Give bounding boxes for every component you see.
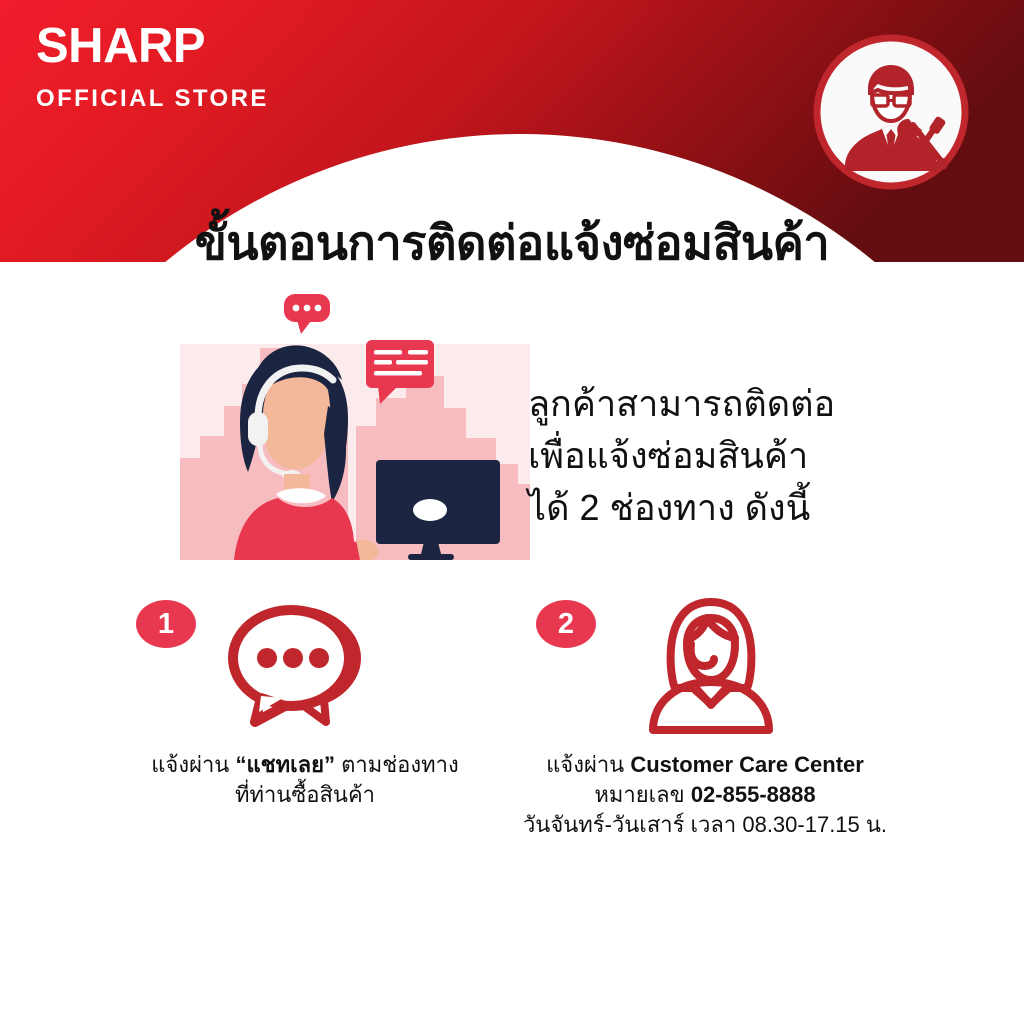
cap-text: แจ้งผ่าน <box>546 752 630 777</box>
small-chat-bubble-icon <box>284 294 330 334</box>
cap-text: แจ้งผ่าน <box>151 752 235 777</box>
promo-graphic-page: SHARP OFFICIAL STORE <box>0 0 1024 1024</box>
agent-illustration-svg <box>180 288 530 560</box>
chat-bubbles-icon <box>225 592 385 737</box>
hero-line-3: ได้ 2 ช่องทาง ดังนี้ <box>528 482 928 534</box>
cap-text: วันจันทร์-วันเสาร์ เวลา 08.30-17.15 น. <box>523 812 887 837</box>
channel-2-caption-line-3: วันจันทร์-วันเสาร์ เวลา 08.30-17.15 น. <box>505 810 905 840</box>
cap-text: ตามช่องทาง <box>335 752 459 777</box>
brand-wordmark: SHARP <box>36 22 269 71</box>
cap-text: หมายเลข <box>594 782 690 807</box>
channel-2-caption: แจ้งผ่าน Customer Care Center หมายเลข 02… <box>505 750 905 840</box>
hero-text-block: ลูกค้าสามารถติดต่อ เพื่อแจ้งซ่อมสินค้า ไ… <box>528 378 928 534</box>
brand-block: SHARP OFFICIAL STORE <box>36 22 269 113</box>
technician-badge <box>812 33 970 191</box>
operator-headset-icon <box>623 592 793 742</box>
hero-line-2: เพื่อแจ้งซ่อมสินค้า <box>528 430 928 482</box>
operator-headset-svg <box>623 592 793 737</box>
cap-text: ที่ท่านซื้อสินค้า <box>235 782 375 807</box>
channel-1-caption: แจ้งผ่าน “แชทเลย” ตามช่องทาง ที่ท่านซื้อ… <box>130 750 480 810</box>
cap-phone-number: 02-855-8888 <box>691 782 816 807</box>
technician-icon <box>812 33 970 191</box>
brand-subtitle: OFFICIAL STORE <box>36 85 269 113</box>
channel-2-caption-line-1: แจ้งผ่าน Customer Care Center <box>505 750 905 780</box>
page-title: ขั้นตอนการติดต่อแจ้งซ่อมสินค้า <box>0 205 1024 280</box>
channel-2-number-badge: 2 <box>536 600 596 648</box>
hero-line-1: ลูกค้าสามารถติดต่อ <box>528 378 928 430</box>
call-center-agent-illustration <box>180 288 530 560</box>
channel-2-caption-line-2: หมายเลข 02-855-8888 <box>505 780 905 810</box>
cap-text-strong: Customer Care Center <box>630 752 864 777</box>
cap-text-strong: “แชทเลย” <box>235 752 335 777</box>
channel-1-caption-line-2: ที่ท่านซื้อสินค้า <box>130 780 480 810</box>
channel-1-number-badge: 1 <box>136 600 196 648</box>
channel-1-caption-line-1: แจ้งผ่าน “แชทเลย” ตามช่องทาง <box>130 750 480 780</box>
chat-bubbles-svg <box>225 592 385 732</box>
